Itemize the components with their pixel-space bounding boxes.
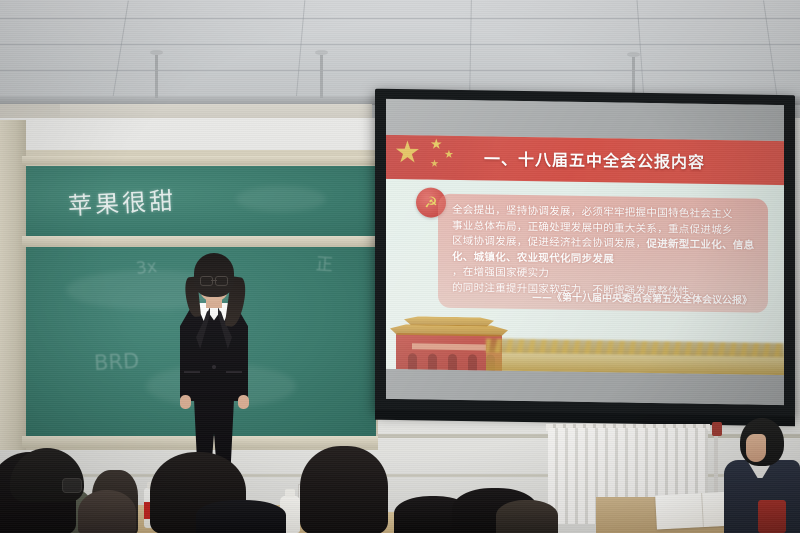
ceiling-rod-cap [315,50,328,55]
ceiling-rod [320,52,323,98]
ceiling-rod-cap [627,52,640,57]
blackboard-left-post [0,120,26,450]
presenter-hand-right [238,395,249,409]
tiananmen-roof-lower [390,324,508,337]
slide-body-card: 全会提出，坚持协调发展，必须牢牢把握中国特色社会主义 事业总体布局，正确处理发展… [438,194,768,313]
audience-head [78,490,136,533]
seated-man-head [740,418,784,466]
ceiling-rod-cap [150,50,163,55]
tiananmen-banner [412,343,486,350]
chalk-writing: 苹果很甜 [67,180,199,225]
tiananmen-roof-upper [404,316,494,326]
ceiling-rod [632,54,635,98]
flag-star-small: ★ [444,150,454,161]
red-object [758,500,786,533]
seated-man-face [746,434,766,462]
presenter-hand-left [180,395,191,409]
presenter-hair [194,253,234,297]
audience-glasses [62,478,82,493]
blackboard-rail-top [22,156,378,165]
flag-star-small: ★ [430,137,443,151]
slide-content: ★ ★ ★ ★ 一、十八届五中全会公报内容 ☭ 全会提出，坚持协调发展，必须牢牢… [386,135,784,375]
slide-letterbox-bottom [386,369,784,405]
slide-title-bar: ★ ★ ★ ★ 一、十八届五中全会公报内容 [386,135,784,185]
audience-head [300,446,388,533]
radiator-valve [712,422,722,436]
slide-title: 一、十八届五中全会公报内容 [484,145,780,174]
flag-star-small: ★ [430,160,439,170]
china-flag: ★ ★ ★ ★ [386,135,496,181]
screenshot-root: 3x BRD 正 苹果很甜 ★ ★ ★ ★ 一、十八届五中全会公报内容 [0,0,800,533]
chalk-faint-mark: BRD [93,349,139,375]
presenter-glasses [200,276,228,285]
ceiling-rod [155,52,158,98]
chalk-faint-mark: 正 [315,249,334,275]
presenter-jacket-button [212,365,216,369]
slide-body-text: 区域协调发展，促进经济社会协调发展， [452,235,646,250]
flag-star-large: ★ [394,138,421,168]
slide-body-line-with-bold: 区域协调发展，促进经济社会协调发展，促进新型工业化、信息化、城镇化、农业现代化同… [452,234,756,270]
audience-head [496,500,558,533]
projector-screen: ★ ★ ★ ★ 一、十八届五中全会公报内容 ☭ 全会提出，坚持协调发展，必须牢牢… [386,99,784,405]
audience-head [196,500,286,533]
projector-screen-frame: ★ ★ ★ ★ 一、十八届五中全会公报内容 ☭ 全会提出，坚持协调发展，必须牢牢… [375,89,795,418]
blackboard-chalk-tray [22,236,378,247]
slide-letterbox-top [386,99,784,141]
hammer-sickle-icon: ☭ [424,195,437,210]
slide-citation: ——《第十八届中央委员会第五次全体会议公报》 [532,288,752,306]
presenter [168,253,258,465]
